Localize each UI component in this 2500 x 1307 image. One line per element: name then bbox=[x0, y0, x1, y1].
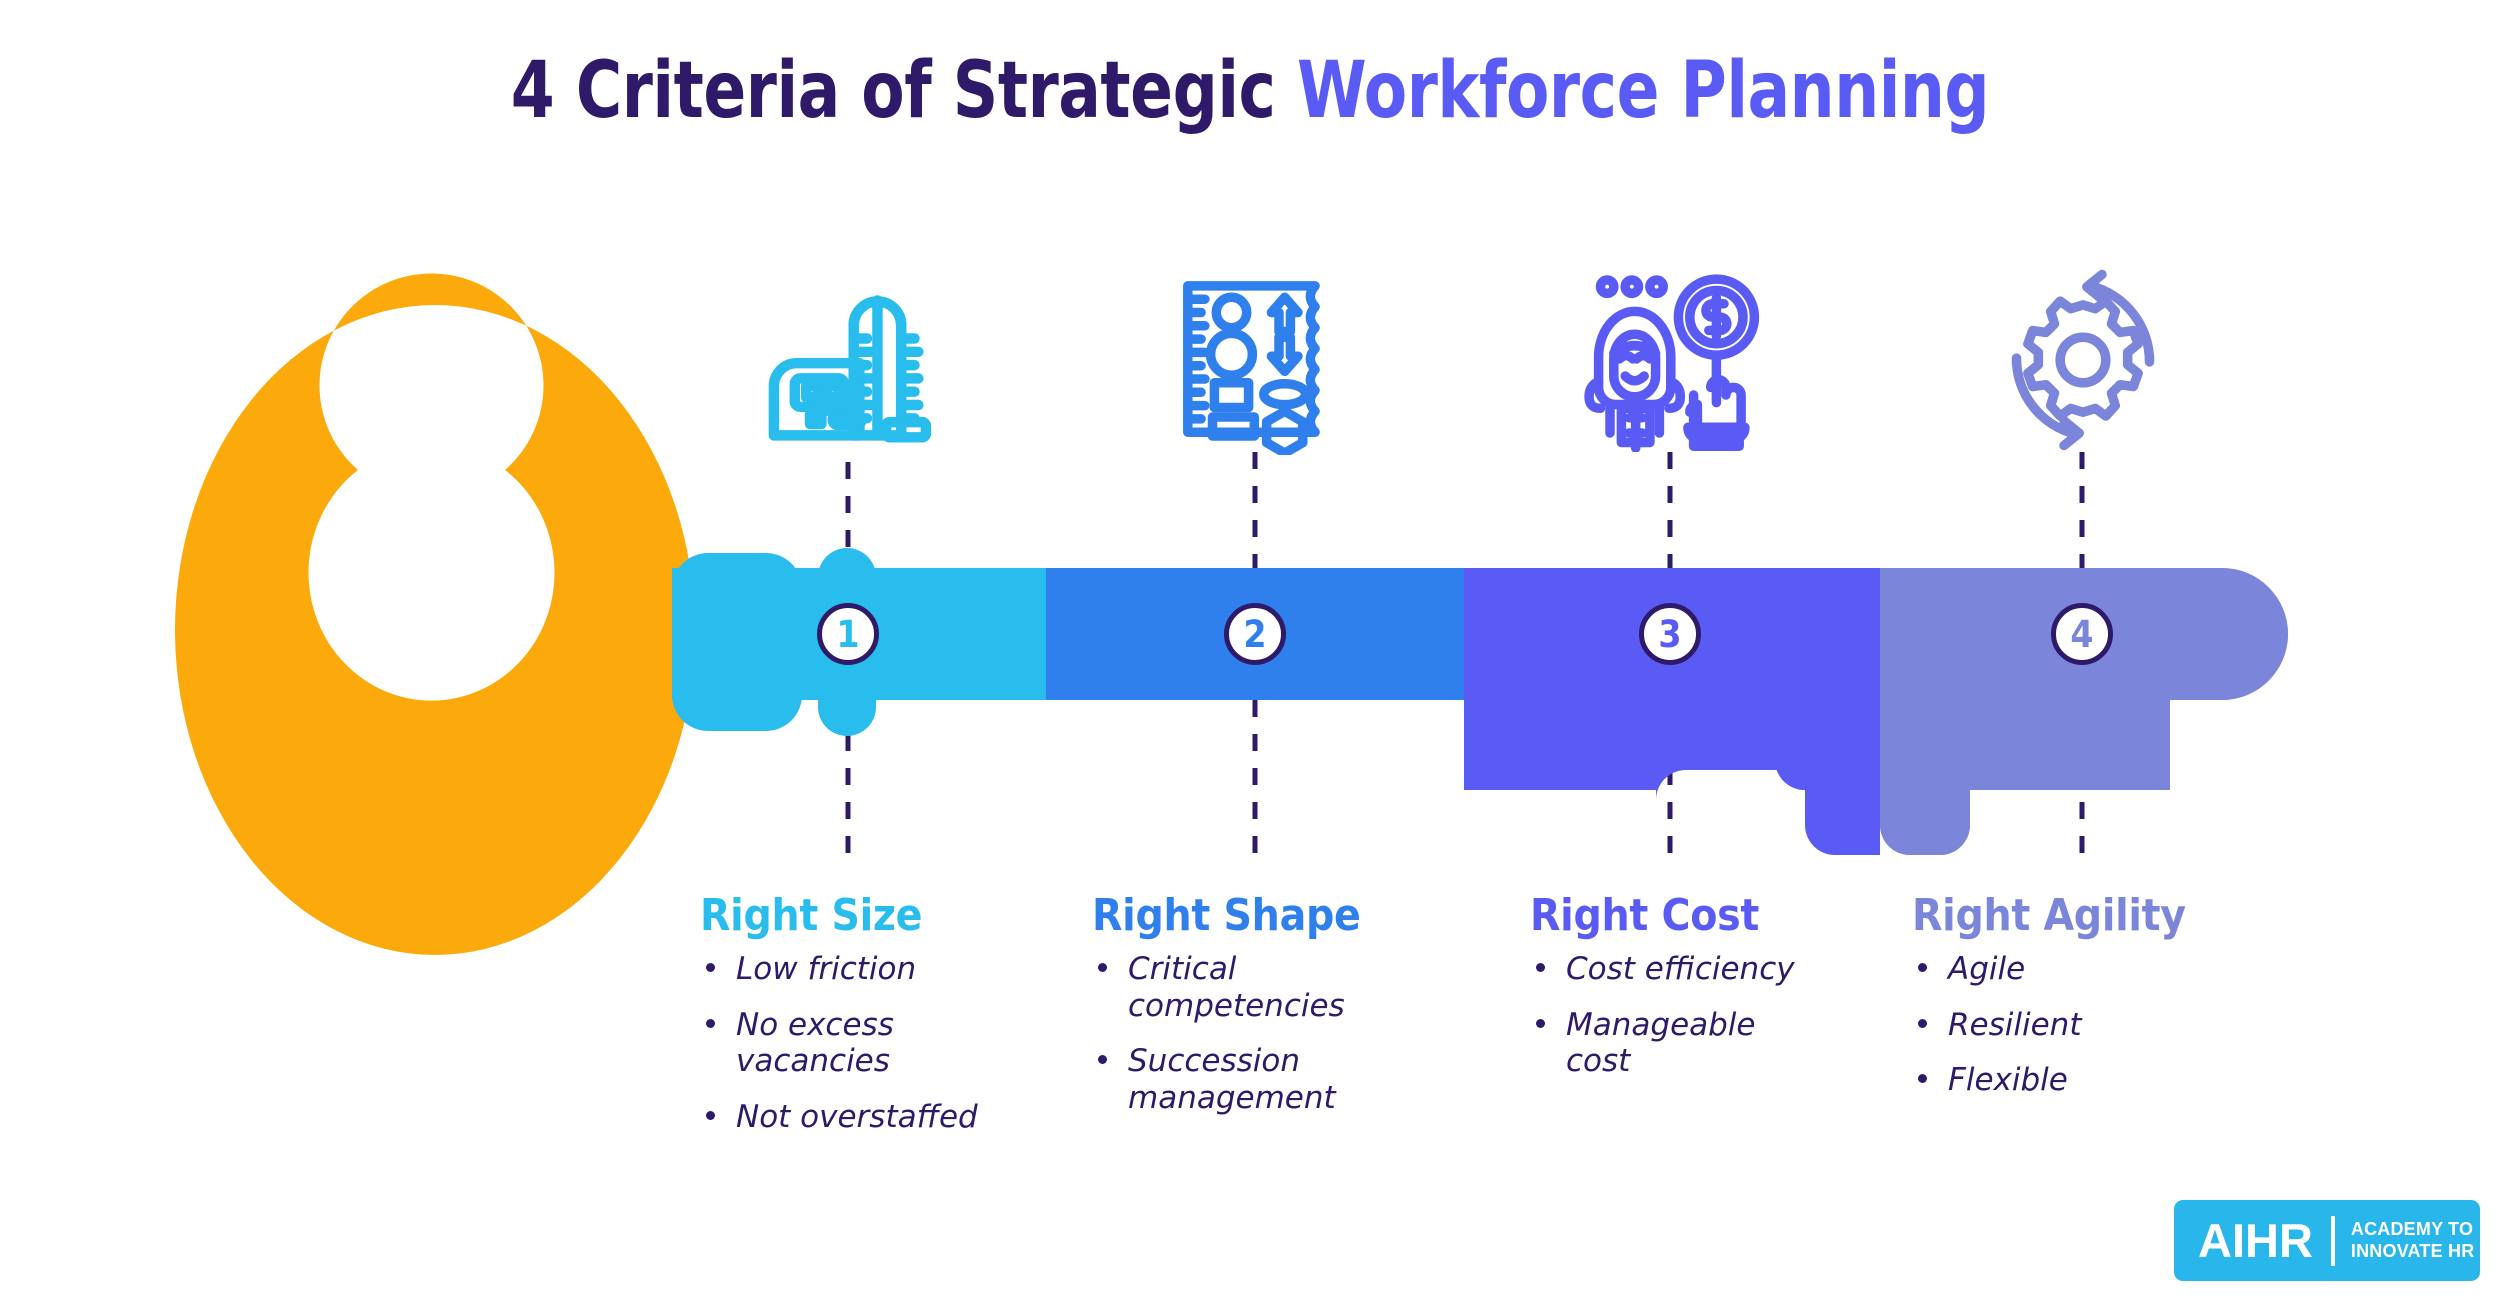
bullet-dot-icon bbox=[1536, 963, 1545, 972]
bullet-list-3: Cost efficiency Manageable cost bbox=[1530, 951, 1820, 1080]
list-item: Succession management bbox=[1092, 1043, 1392, 1116]
shapes-chart-icon bbox=[1165, 265, 1355, 455]
bullet-list-2: Critical competencies Succession managem… bbox=[1092, 951, 1392, 1116]
list-item: Manageable cost bbox=[1530, 1007, 1820, 1080]
bullet-dot-icon bbox=[706, 1111, 715, 1120]
logo-tagline-line1: ACADEMY TO bbox=[2351, 1219, 2475, 1241]
key-tooth-left bbox=[1775, 700, 1880, 790]
bullet-text: Critical competencies bbox=[1128, 951, 1345, 1024]
bullet-text: Agile bbox=[1948, 951, 2025, 987]
bullet-dot-icon bbox=[1918, 1019, 1927, 1028]
logo-divider bbox=[2331, 1216, 2335, 1266]
badge-4: 4 bbox=[2051, 603, 2113, 665]
aihr-logo: AIHR ACADEMY TO INNOVATE HR bbox=[2174, 1200, 2480, 1281]
column-heading-1: Right Size bbox=[700, 890, 1030, 941]
bullet-text: Succession management bbox=[1128, 1043, 1336, 1116]
column-right-shape: Right Shape Critical competencies Succes… bbox=[1092, 890, 1392, 1135]
bullet-dot-icon bbox=[1536, 1019, 1545, 1028]
list-item: Agile bbox=[1912, 951, 2212, 988]
bullet-dot-icon bbox=[1098, 963, 1107, 972]
logo-tagline: ACADEMY TO INNOVATE HR bbox=[2351, 1219, 2475, 1263]
logo-tagline-line2: INNOVATE HR bbox=[2351, 1241, 2475, 1263]
bullet-text: No excess vacancies bbox=[736, 1007, 894, 1080]
bullet-dot-icon bbox=[706, 1019, 715, 1028]
bullet-text: Flexible bbox=[1948, 1062, 2068, 1098]
list-item: No excess vacancies bbox=[700, 1007, 1030, 1080]
connector-lines-bottom bbox=[848, 700, 2082, 855]
bullet-dot-icon bbox=[1098, 1055, 1107, 1064]
bullet-dot-icon bbox=[706, 963, 715, 972]
connector-lines-top bbox=[848, 452, 2082, 568]
page-title: 4 Criteria of Strategic Workforce Planni… bbox=[125, 46, 2375, 136]
bullet-list-4: Agile Resilient Flexible bbox=[1912, 951, 2212, 1099]
key-tooth-left-lower bbox=[1830, 760, 1880, 855]
badge-1: 1 bbox=[817, 603, 879, 665]
bullet-text: Cost efficiency bbox=[1566, 951, 1795, 987]
list-item: Flexible bbox=[1912, 1062, 2212, 1099]
bullet-text: Resilient bbox=[1948, 1007, 2081, 1043]
bullet-text: Manageable cost bbox=[1566, 1007, 1756, 1080]
bullet-list-1: Low friction No excess vacancies Not ove… bbox=[700, 951, 1030, 1135]
title-dark-text: 4 Criteria of Strategic bbox=[511, 46, 1297, 136]
list-item: Critical competencies bbox=[1092, 951, 1392, 1024]
person-cost-icon bbox=[1572, 262, 1762, 452]
list-item: Cost efficiency bbox=[1530, 951, 1820, 988]
bullet-dot-icon bbox=[1918, 963, 1927, 972]
logo-brand-text: AIHR bbox=[2198, 1213, 2313, 1268]
column-right-cost: Right Cost Cost efficiency Manageable co… bbox=[1530, 890, 1820, 1099]
list-item: Not overstaffed bbox=[700, 1099, 1030, 1136]
bullet-text: Not overstaffed bbox=[736, 1099, 978, 1135]
list-item: Low friction bbox=[700, 951, 1030, 988]
title-accent-text: Workforce Planning bbox=[1297, 46, 1989, 136]
column-heading-4: Right Agility bbox=[1912, 890, 2212, 941]
badge-2: 2 bbox=[1224, 603, 1286, 665]
bullet-text: Low friction bbox=[736, 951, 916, 987]
badge-3: 3 bbox=[1639, 603, 1701, 665]
column-right-size: Right Size Low friction No excess vacanc… bbox=[700, 890, 1030, 1154]
list-item: Resilient bbox=[1912, 1007, 2212, 1044]
column-heading-3: Right Cost bbox=[1530, 890, 1820, 941]
gear-refresh-icon bbox=[1988, 265, 2178, 455]
tape-measure-icon bbox=[753, 272, 943, 462]
column-right-agility: Right Agility Agile Resilient Flexible bbox=[1912, 890, 2212, 1118]
column-heading-2: Right Shape bbox=[1092, 890, 1392, 941]
infographic-canvas: 4 Criteria of Strategic Workforce Planni… bbox=[0, 0, 2500, 1307]
key-bow bbox=[175, 273, 740, 955]
bullet-dot-icon bbox=[1918, 1074, 1927, 1083]
